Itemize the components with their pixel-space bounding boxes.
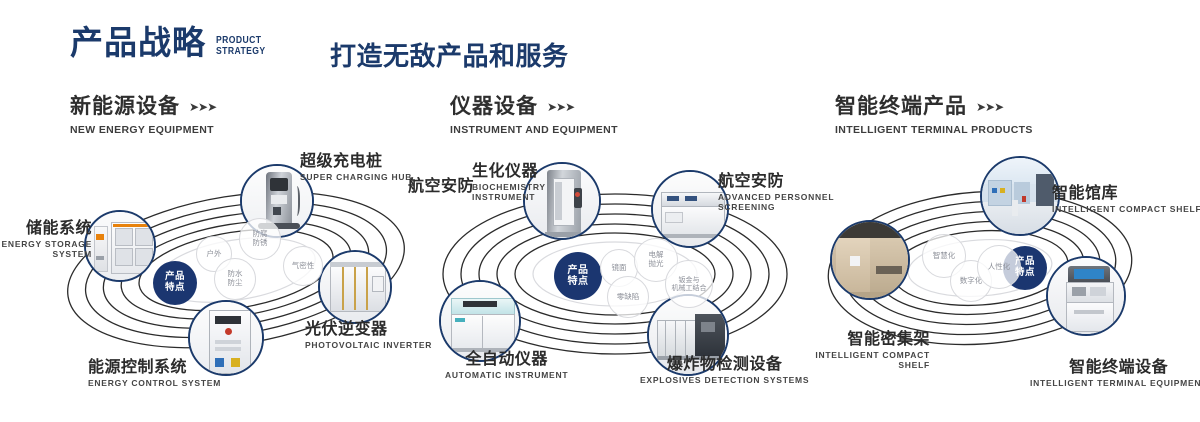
chevron-right-icon: ➤➤➤ [976,101,1003,113]
caption-intelligent-terminal-equipment: 智能终端设备 INTELLIGENT TERMINAL EQUIPMENT [1030,358,1200,388]
feature-label: 零缺陷 [617,293,640,302]
cluster-new-energy: 产品 特点 户外 防腐 防锈 防水 防尘 气密性 [40,158,430,388]
caption-cn: 储能系统 [0,219,92,237]
screening-machine-image [653,172,727,246]
caption-cn: 能源控制系统 [88,358,221,376]
caption-en: ADVANCED PERSONNELSCREENING [718,192,834,212]
center-badge-product-features[interactable]: 产品 特点 [554,252,602,300]
poster-header: 产品战略 PRODUCT STRATEGY [70,26,276,59]
caption-en: INTELLIGENT TERMINAL EQUIPMENT [1030,378,1200,388]
caption-cn: 智能密集架 [780,330,930,348]
section-title-en: INSTRUMENT AND EQUIPMENT [450,124,618,136]
section-title-cn: 智能终端产品 [835,96,967,117]
caption-en: EXPLOSIVES DETECTION SYSTEMS [640,375,809,385]
badge-line-2: 特点 [165,283,185,294]
caption-cn: 生化仪器 [472,162,546,180]
section-title-cn: 新能源设备 [70,96,180,117]
section-title-cn: 仪器设备 [450,96,538,117]
caption-en: ENERGY CONTROL SYSTEM [88,378,221,388]
feature-label: 镜面 [612,264,627,273]
caption-aviation-security-right: 航空安防 ADVANCED PERSONNELSCREENING [718,172,834,212]
node-photo-pv-inverter[interactable] [318,250,392,324]
caption-en: SUPER CHARGING HUB [300,172,412,182]
center-badge-product-features[interactable]: 产品 特点 [153,261,197,305]
chevron-right-icon: ➤➤➤ [547,101,574,113]
section-heading-instrument: 仪器设备 ➤➤➤ INSTRUMENT AND EQUIPMENT [450,96,618,136]
feature-bubble: 人性化 [977,245,1021,289]
feature-label-l1: 钣金与 [679,276,700,284]
feature-label-l2: 防尘 [228,279,243,288]
caption-biochemistry-instrument: 生化仪器 BIOCHEMISTRYINSTRUMENT [472,162,546,202]
poster-title-cn: 产品战略 [70,26,206,59]
poster-title-en-line2: STRATEGY [216,46,266,57]
caption-en: PHOTOVOLTAIC INVERTER [305,340,432,350]
feature-bubble: 钣金与 机械工结合 [665,260,713,308]
caption-en: ENERGY STORAGESYSTEM [0,239,92,259]
feature-bubble: 防腐 防锈 [239,218,281,260]
section-heading-intelligent-terminal: 智能终端产品 ➤➤➤ INTELLIGENT TERMINAL PRODUCTS [835,96,1033,136]
section-heading-new-energy: 新能源设备 ➤➤➤ NEW ENERGY EQUIPMENT [70,96,216,136]
caption-pv-inverter: 光伏逆变器 PHOTOVOLTAIC INVERTER [305,320,432,350]
caption-energy-control: 能源控制系统 ENERGY CONTROL SYSTEM [88,358,221,388]
feature-label: 气密性 [292,262,315,271]
badge-line-1: 产品 [568,265,589,276]
caption-cn: 航空安防 [718,172,834,190]
feature-label: 数字化 [960,277,983,286]
compact-shelf-image [832,222,908,298]
caption-cn: 光伏逆变器 [305,320,432,338]
caption-cn: 航空安防 [408,177,474,195]
section-title-en: NEW ENERGY EQUIPMENT [70,124,216,136]
feature-bubble: 零缺陷 [607,276,649,318]
node-photo-energy-storage[interactable] [84,210,156,282]
caption-energy-storage: 储能系统 ENERGY STORAGESYSTEM [0,219,92,259]
node-photo-compact-shelf[interactable] [830,220,910,300]
poster-canvas: 产品战略 PRODUCT STRATEGY 打造无敌产品和服务 新能源设备 ➤➤… [0,0,1200,422]
node-photo-self-service-kiosk[interactable] [1046,256,1126,336]
feature-label-l2: 防锈 [253,239,268,248]
caption-en: AUTOMATIC INSTRUMENT [445,370,568,380]
badge-line-2: 特点 [568,276,589,287]
caption-aviation-security-left: 航空安防 [408,177,474,195]
feature-label: 人性化 [988,263,1011,272]
poster-tagline: 打造无敌产品和服务 [330,36,569,73]
caption-intelligent-library: 智能馆库 INTELLIGENT COMPACT SHELF [1052,184,1200,214]
feature-label-l2: 抛光 [649,260,664,269]
caption-automatic-instrument: 全自动仪器 AUTOMATIC INSTRUMENT [445,350,568,380]
caption-compact-shelf: 智能密集架 INTELLIGENT COMPACTSHELF [780,330,930,370]
caption-en: BIOCHEMISTRYINSTRUMENT [472,182,546,202]
poster-title-en: PRODUCT STRATEGY [216,35,266,57]
caption-charging-pile: 超级充电桩 SUPER CHARGING HUB [300,152,412,182]
caption-cn: 全自动仪器 [445,350,568,368]
caption-cn: 智能终端设备 [1030,358,1200,376]
library-interior-image [982,158,1058,234]
self-service-kiosk-image [1048,258,1124,334]
feature-label: 智慧化 [933,252,956,261]
section-title-en: INTELLIGENT TERMINAL PRODUCTS [835,124,1033,136]
caption-en: INTELLIGENT COMPACTSHELF [780,350,930,370]
node-photo-intelligent-library[interactable] [980,156,1060,236]
caption-cn: 智能馆库 [1052,184,1200,202]
feature-label-l2: 机械工结合 [672,284,707,292]
pv-inverter-cabinet-image [320,252,390,322]
feature-bubble: 防水 防尘 [214,258,256,300]
feature-bubble: 气密性 [283,246,323,286]
chevron-right-icon: ➤➤➤ [189,101,216,113]
caption-cn: 超级充电桩 [300,152,412,170]
feature-label: 户外 [207,250,222,259]
energy-storage-cabinet-image [86,212,154,280]
caption-en: INTELLIGENT COMPACT SHELF [1052,204,1200,214]
